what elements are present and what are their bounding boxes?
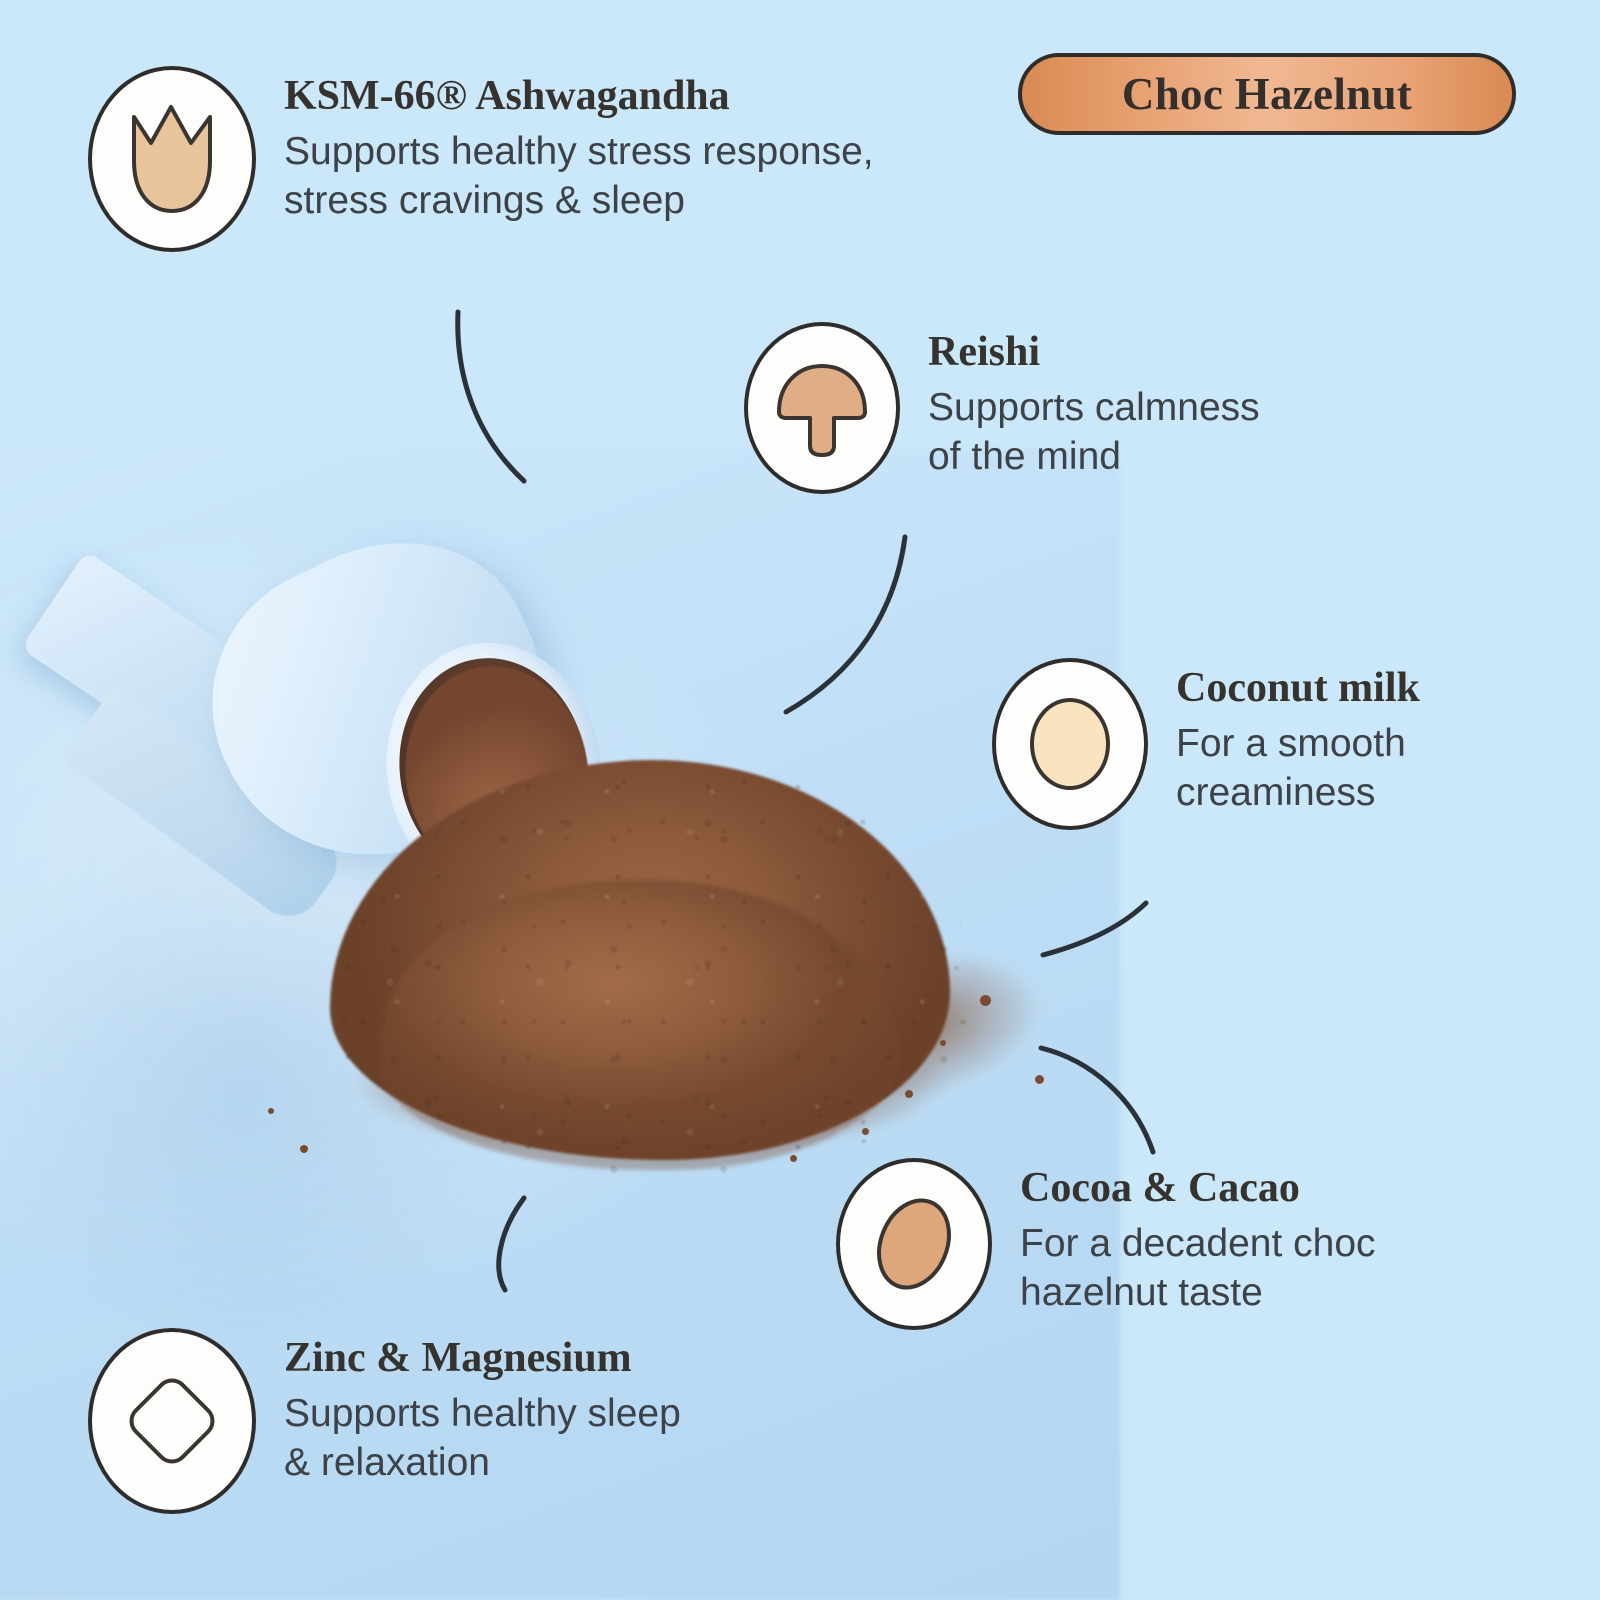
coconut-title: Coconut milk	[1176, 666, 1420, 711]
feature-coconut: Coconut milk For a smooth creaminess	[992, 658, 1420, 830]
cocoa-description: For a decadent choc hazelnut taste	[1020, 1219, 1376, 1319]
coconut-description: For a smooth creaminess	[1176, 719, 1420, 819]
reishi-text: Reishi Supports calmness of the mind	[928, 322, 1260, 482]
diamond-mineral-icon	[117, 1366, 227, 1476]
zinc-description: Supports healthy sleep & relaxation	[284, 1389, 681, 1489]
reishi-description: Supports calmness of the mind	[928, 383, 1260, 483]
feature-reishi: Reishi Supports calmness of the mind	[744, 322, 1260, 494]
infographic-canvas: Choc Hazelnut KSM-66® Ashwagandha Suppor…	[0, 0, 1600, 1600]
powder-speck	[862, 1128, 869, 1135]
ashwagandha-description: Supports healthy stress response, stress…	[284, 127, 874, 227]
feature-ashwagandha: KSM-66® Ashwagandha Supports healthy str…	[88, 66, 874, 252]
ashwagandha-text: KSM-66® Ashwagandha Supports healthy str…	[284, 66, 874, 226]
powder-speck	[940, 1040, 946, 1046]
coconut-text: Coconut milk For a smooth creaminess	[1176, 658, 1420, 818]
powder-speck	[905, 1090, 913, 1098]
powder-speck	[1035, 1075, 1044, 1084]
flavour-badge-label: Choc Hazelnut	[1122, 68, 1412, 120]
zinc-title: Zinc & Magnesium	[284, 1336, 681, 1381]
feature-cocoa: Cocoa & Cacao For a decadent choc hazeln…	[836, 1158, 1376, 1330]
cocoa-text: Cocoa & Cacao For a decadent choc hazeln…	[1020, 1158, 1376, 1318]
ashwagandha-title: KSM-66® Ashwagandha	[284, 74, 874, 119]
powder-speck	[790, 1155, 797, 1162]
flavour-badge[interactable]: Choc Hazelnut	[1018, 53, 1516, 135]
feature-zinc: Zinc & Magnesium Supports healthy sleep …	[88, 1328, 681, 1514]
powder-speck	[980, 995, 991, 1006]
zinc-icon-badge	[88, 1328, 256, 1514]
reishi-icon-badge	[744, 322, 900, 494]
mushroom-icon	[770, 356, 874, 460]
cocoa-title: Cocoa & Cacao	[1020, 1166, 1376, 1211]
ashwagandha-root-icon	[124, 99, 220, 219]
reishi-title: Reishi	[928, 330, 1260, 375]
powder-speck	[300, 1145, 308, 1153]
cocoa-bean-icon	[862, 1186, 966, 1302]
powder-speck	[268, 1108, 274, 1114]
zinc-text: Zinc & Magnesium Supports healthy sleep …	[284, 1328, 681, 1488]
coconut-milk-icon	[1018, 687, 1122, 801]
ashwagandha-icon-badge	[88, 66, 256, 252]
cocoa-icon-badge	[836, 1158, 992, 1330]
coconut-icon-badge	[992, 658, 1148, 830]
